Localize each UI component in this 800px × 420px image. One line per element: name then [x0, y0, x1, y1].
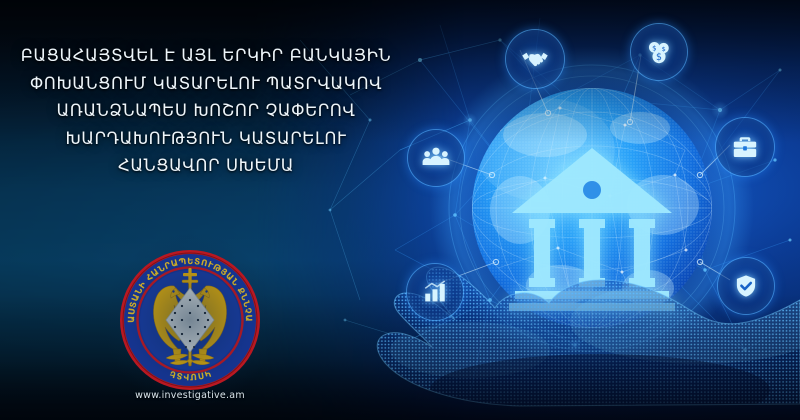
- shield-check-icon: [718, 258, 774, 314]
- svg-text:$: $: [652, 44, 656, 52]
- headline-line-2: ՓՈԽԱՆՑՈՒՄ ԿԱՏԱՐԵԼՈՒ ՊԱՏՐՎԱԿՈՎ: [6, 70, 406, 98]
- website-url: www.investigative.am: [118, 390, 262, 401]
- group-people-icon: [408, 130, 464, 186]
- headline-line-4: ԽԱՐԴԱԽՈՒԹՅՈՒՆ ԿԱՏԱՐԵԼՈՒ: [6, 125, 406, 153]
- headline-line-1: ԲԱՑԱՀԱՅՏՎԵԼ Է ԱՅԼ ԵՐԿԻՐ ԲԱՆԿԱՅԻՆ: [6, 42, 406, 70]
- briefcase-icon: [716, 118, 774, 176]
- headline-line-3: ԱՌԱՆՁՆԱՊԵՍ ԽՈՇՈՐ ՉԱՓԵՐՈՎ: [6, 97, 406, 125]
- headline-line-5: ՀԱՆՑԱՎՈՐ ՍԽԵՄԱ: [6, 152, 406, 180]
- handshake-icon: [506, 30, 564, 88]
- svg-text:$: $: [662, 45, 666, 53]
- bar-chart-icon: [407, 264, 463, 320]
- banner-image: $ $ $: [0, 0, 800, 420]
- svg-text:$: $: [656, 52, 662, 63]
- coins-dollar-icon: $ $ $: [631, 24, 687, 80]
- emblem: ՀԱՅԱՍՏԱՆԻ ՀԱՆՐԱՊԵՏՈՒԹՅԱՆ ՔՆՆՉԱԿԱՆ ԿՈՄԻՏԵ: [118, 248, 262, 392]
- headline: ԲԱՑԱՀԱՅՏՎԵԼ Է ԱՅԼ ԵՐԿԻՐ ԲԱՆԿԱՅԻՆ ՓՈԽԱՆՑՈ…: [6, 42, 406, 180]
- emblem-glow: [104, 234, 276, 406]
